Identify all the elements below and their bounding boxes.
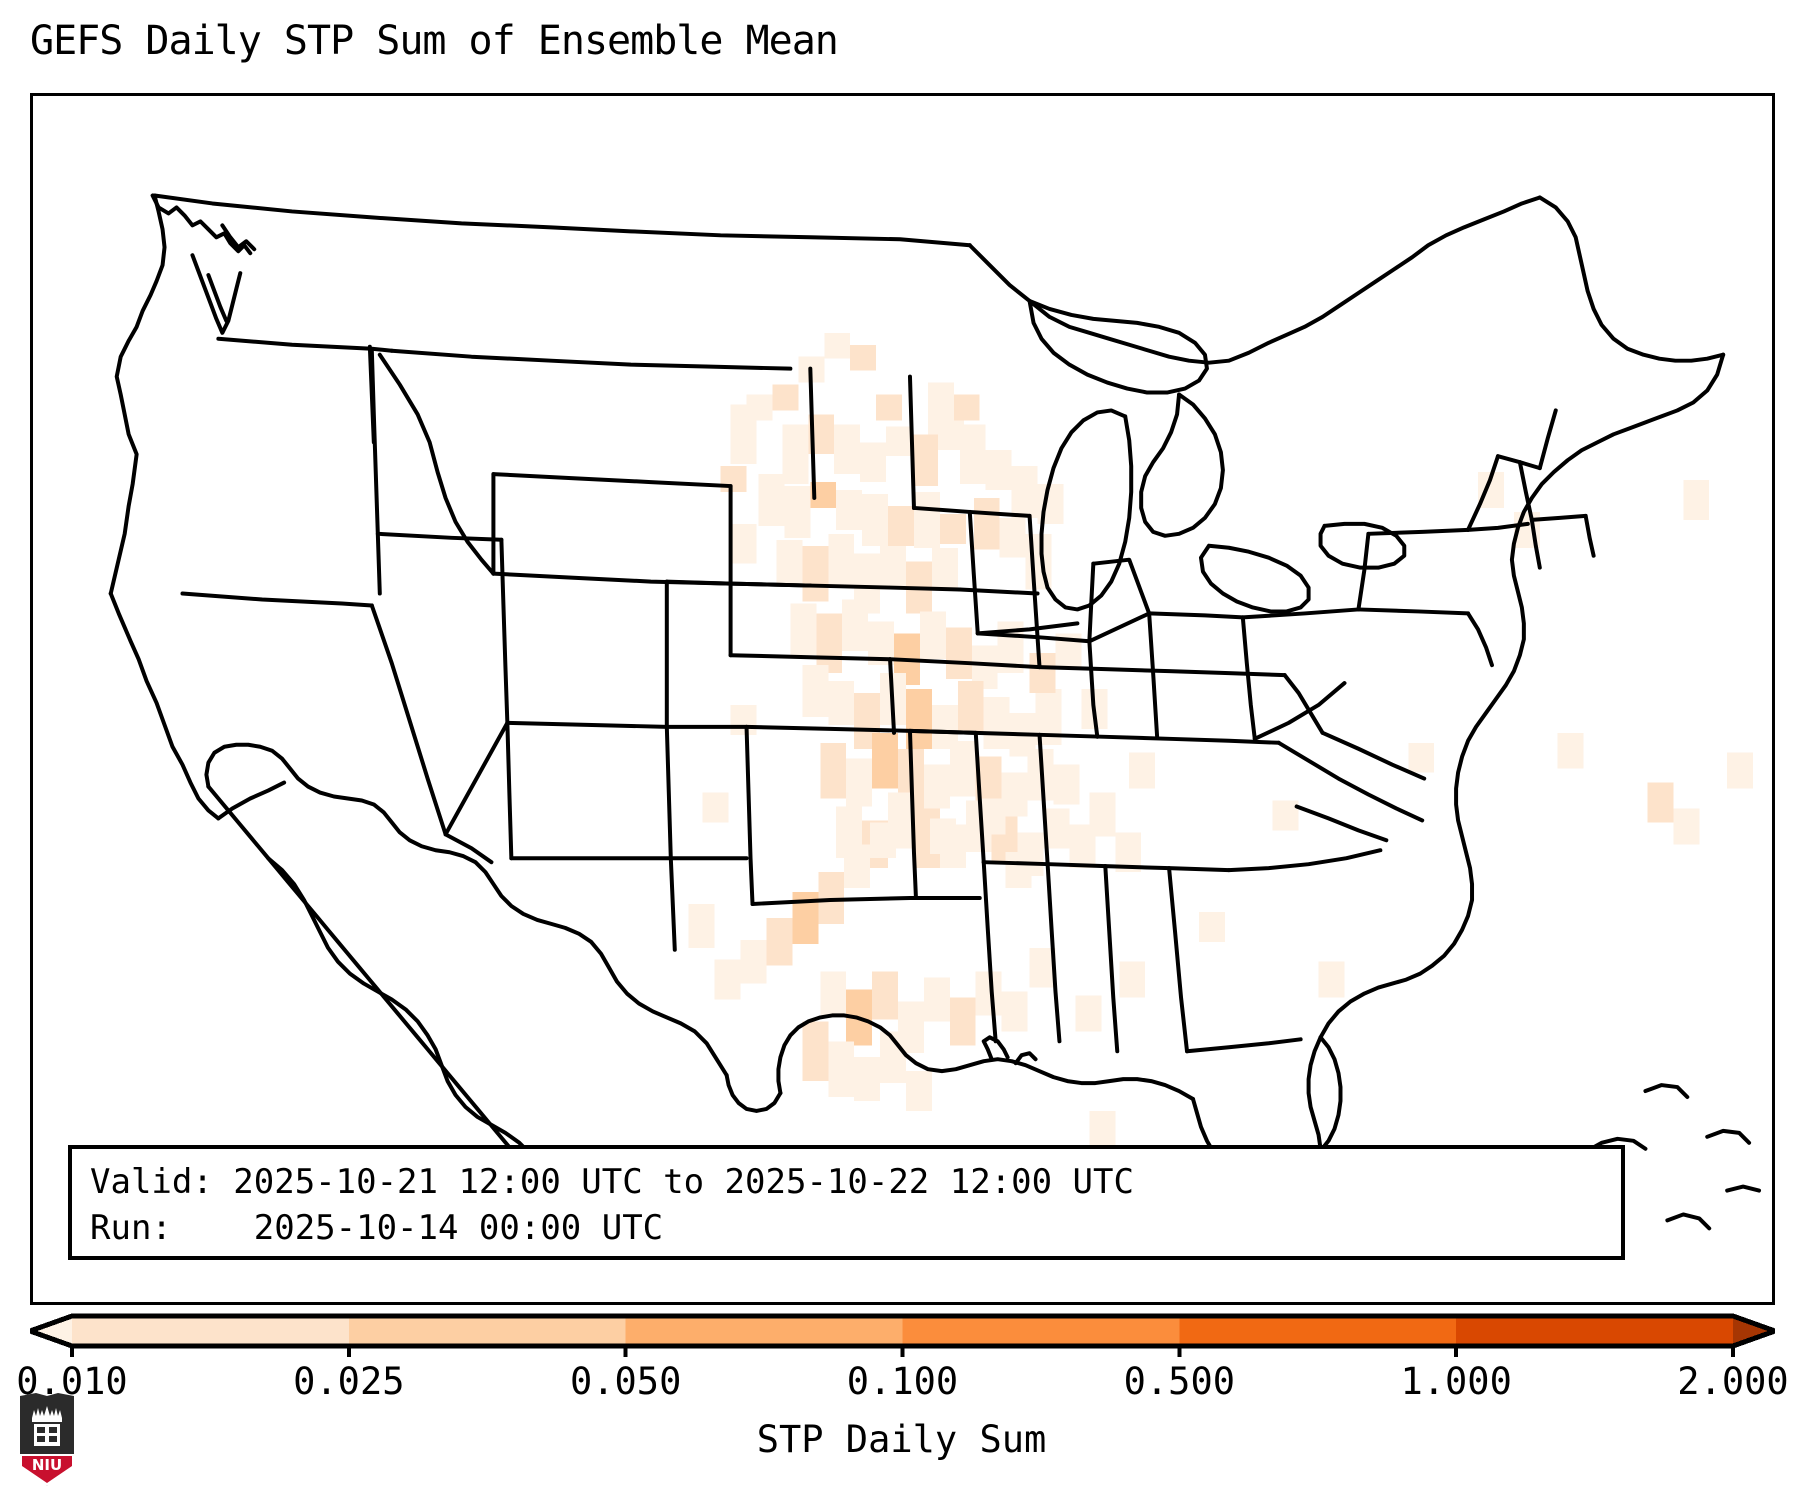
colorbar-band — [1456, 1316, 1733, 1346]
colorbar-band — [349, 1316, 626, 1346]
colorbar-band — [626, 1316, 903, 1346]
colorbar-bands — [30, 1316, 1775, 1346]
map-svg — [33, 96, 1772, 1302]
colorbar-tick-labels: 0.0100.0250.0500.1000.5001.0002.0003.000 — [0, 1360, 1803, 1406]
colorbar-axis-label: STP Daily Sum — [0, 1418, 1803, 1461]
page-title: GEFS Daily STP Sum of Ensemble Mean — [30, 18, 838, 64]
colorbar-tick-label: 0.500 — [1124, 1360, 1235, 1403]
run-time-text: Run: 2025-10-14 00:00 UTC — [90, 1205, 1603, 1251]
valid-time-text: Valid: 2025-10-21 12:00 UTC to 2025-10-2… — [90, 1159, 1603, 1205]
forecast-info-box: Valid: 2025-10-21 12:00 UTC to 2025-10-2… — [68, 1145, 1625, 1260]
colorbar-band — [903, 1316, 1180, 1346]
colorbar-tick-label: 0.025 — [293, 1360, 404, 1403]
niu-logo-text: NIU — [32, 1456, 62, 1474]
colorbar-tick-label: 1.000 — [1400, 1360, 1511, 1403]
colorbar-tick-label: 0.050 — [570, 1360, 681, 1403]
niu-shield-logo: NIU — [16, 1392, 78, 1488]
map-plot-area — [30, 93, 1775, 1305]
colorbar-band — [1179, 1316, 1456, 1346]
colorbar-band — [72, 1316, 349, 1346]
colorbar-tick-label: 2.000 — [1677, 1360, 1788, 1403]
colorbar-svg — [30, 1312, 1775, 1358]
colorbar — [30, 1312, 1775, 1358]
colorbar-tick-label: 0.100 — [847, 1360, 958, 1403]
